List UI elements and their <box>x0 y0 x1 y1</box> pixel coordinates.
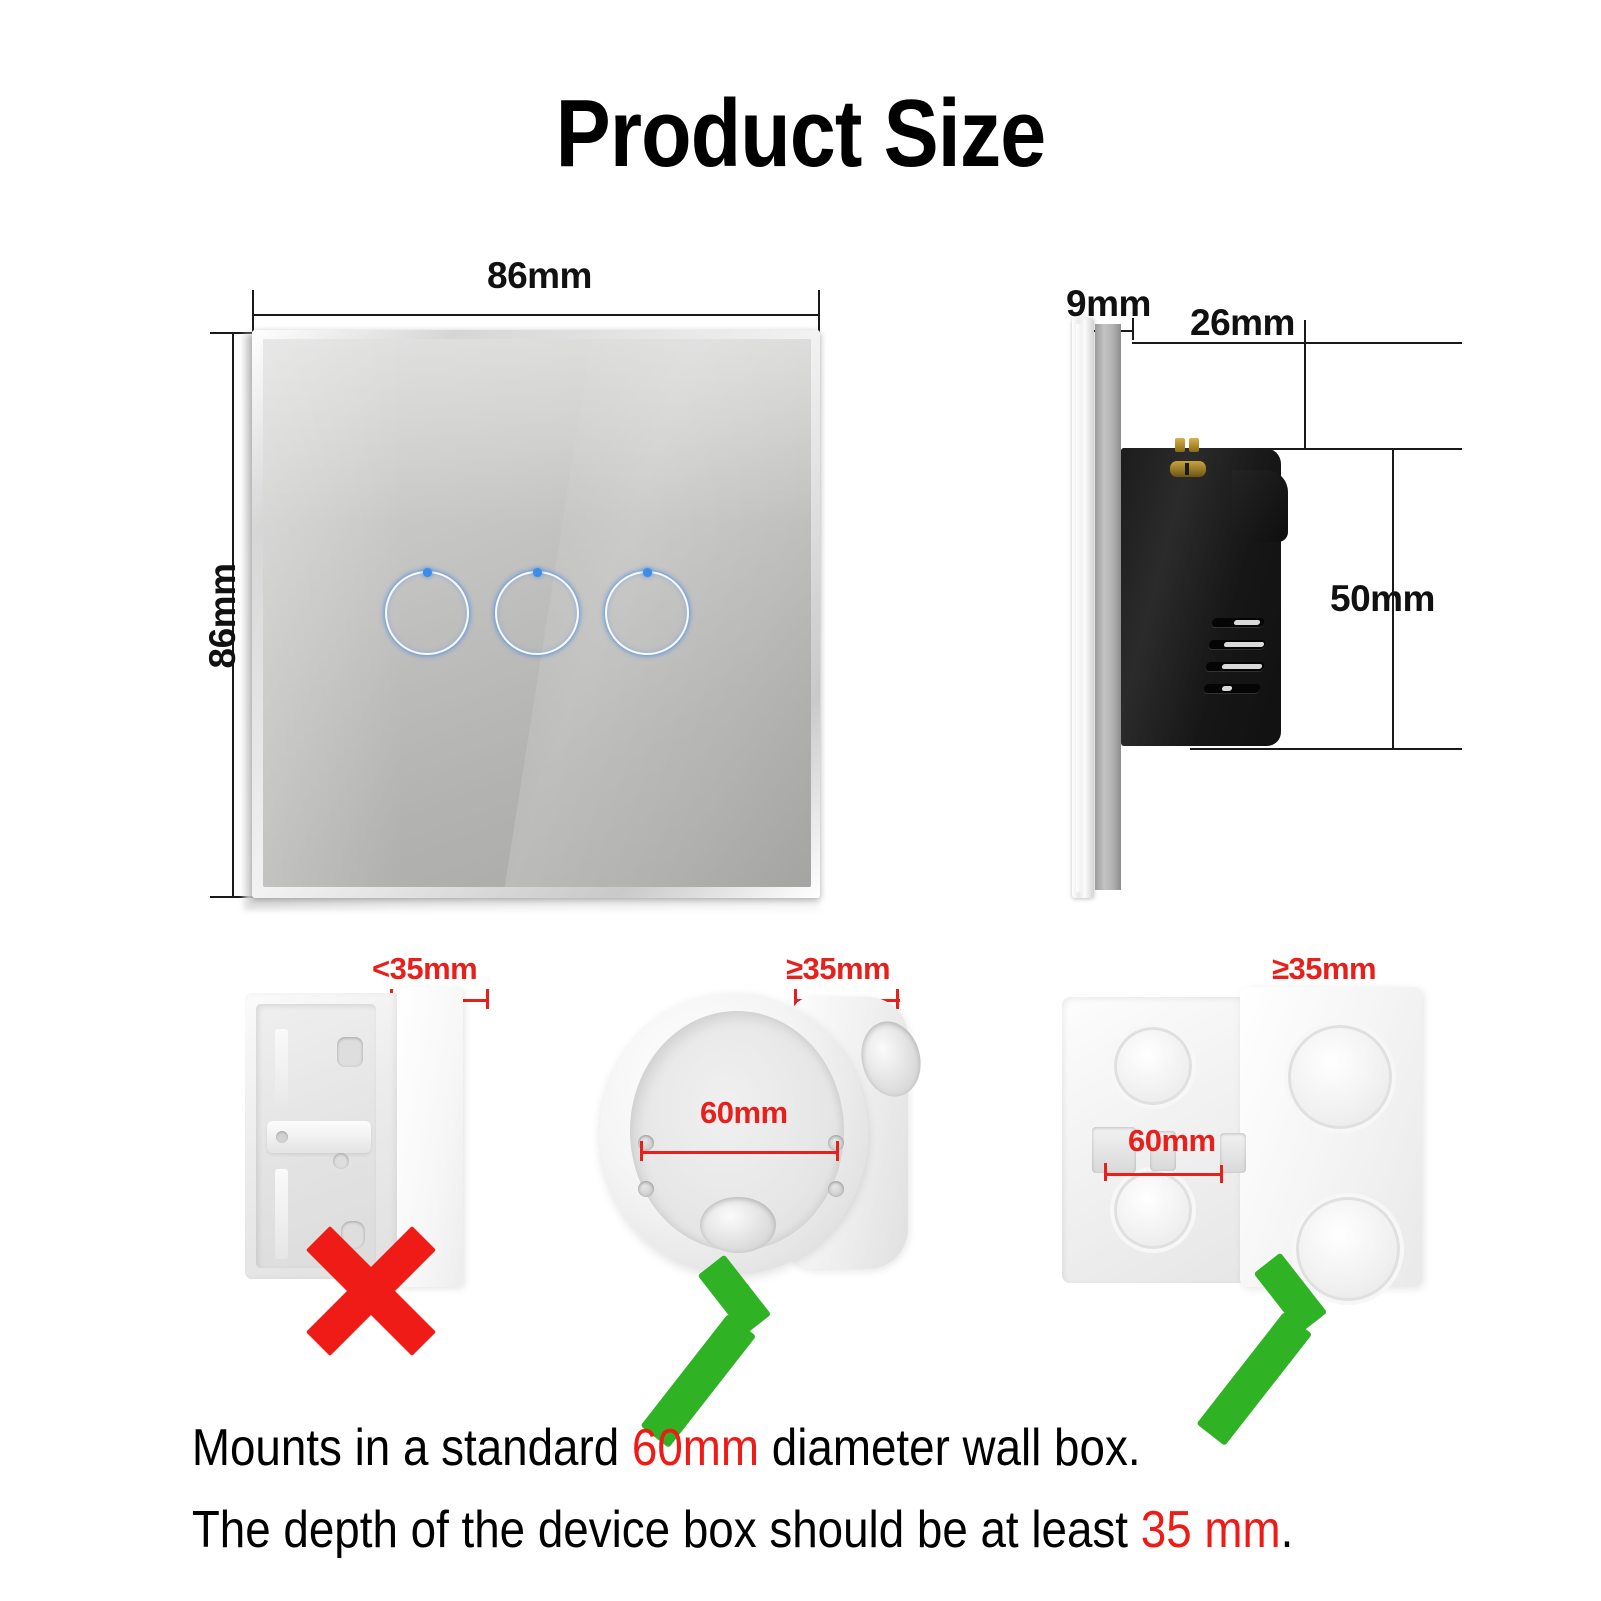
touch-button-row <box>263 339 811 887</box>
square-box-lug-3 <box>1220 1133 1246 1173</box>
page-title: Product Size <box>112 86 1489 182</box>
caption1-post: diameter wall box. <box>759 1419 1141 1477</box>
vent-highlight-3 <box>1221 664 1262 669</box>
round-box-diameter-tick-right <box>836 1141 839 1161</box>
caption1-pre: Mounts in a standard <box>192 1419 632 1477</box>
wall-box-1-depth-label: <35mm <box>372 951 477 987</box>
square-box-diameter-line <box>1106 1173 1222 1176</box>
round-box-diameter-line <box>642 1151 838 1154</box>
touch-button-1[interactable] <box>385 571 469 655</box>
wall-box-1-tick-right <box>486 989 489 1009</box>
product-size-infographic: Product Size 86mm 86mm 9mm 26mm 50mm <box>0 0 1601 1601</box>
vent-highlight-4 <box>1221 686 1232 691</box>
terminal-block <box>1170 461 1206 477</box>
terminal-screw-2 <box>1189 438 1199 452</box>
vent-slot-4 <box>1203 684 1261 693</box>
caption-line-1: Mounts in a standard 60mm diameter wall … <box>0 1418 1409 1478</box>
module-rear-bump <box>1232 470 1288 542</box>
touch-switch-front-panel[interactable] <box>252 330 820 898</box>
surface-box-knockout-1 <box>337 1037 363 1067</box>
vent-highlight-2 <box>1223 642 1264 647</box>
surface-box-screw-hole <box>333 1153 349 1169</box>
round-box-screw-hole-4 <box>828 1181 844 1197</box>
side-mounting-plate <box>1095 324 1121 890</box>
front-width-label: 86mm <box>487 255 592 297</box>
wall-box-row: <35mm <box>0 955 1601 1375</box>
caption-line-2: The depth of the device box should be at… <box>0 1500 1409 1560</box>
square-box-knockout-3 <box>1284 1021 1396 1133</box>
round-box-diameter-label: 60mm <box>700 1095 788 1131</box>
surface-box-rib-2 <box>275 1169 288 1259</box>
surface-box-screw-lug <box>267 1121 371 1153</box>
green-check-icon <box>1244 1201 1394 1341</box>
square-box-diameter-tick-left <box>1104 1163 1107 1181</box>
panel-glass-face <box>263 339 811 887</box>
caption2-post: . <box>1281 1501 1294 1559</box>
round-box-screw-hole-2 <box>638 1181 654 1197</box>
caption2-pre: The depth of the device box should be at… <box>192 1501 1141 1559</box>
square-box-knockout-1 <box>1110 1023 1196 1109</box>
green-check-icon <box>688 1203 838 1343</box>
wall-box-2-depth-label: ≥35mm <box>786 951 890 987</box>
touch-button-2[interactable] <box>495 571 579 655</box>
side-glass-edge <box>1072 318 1094 898</box>
round-box-diameter-tick-left <box>640 1141 643 1161</box>
front-height-label: 86mm <box>202 556 244 676</box>
square-box-diameter-tick-right <box>1220 1165 1223 1183</box>
caption2-highlight: 35 mm <box>1141 1501 1281 1559</box>
vent-highlight-1 <box>1233 620 1260 625</box>
caption1-highlight: 60mm <box>632 1419 759 1477</box>
red-x-icon <box>307 1227 435 1355</box>
touch-button-3[interactable] <box>605 571 689 655</box>
surface-box-rib-1 <box>275 1029 288 1115</box>
touch-switch-side-assembly <box>1072 318 1402 898</box>
terminal-screw-1 <box>1175 438 1185 452</box>
front-width-dim-line <box>252 314 820 316</box>
square-box-knockout-2 <box>1110 1167 1196 1253</box>
square-box-diameter-label: 60mm <box>1128 1123 1216 1159</box>
